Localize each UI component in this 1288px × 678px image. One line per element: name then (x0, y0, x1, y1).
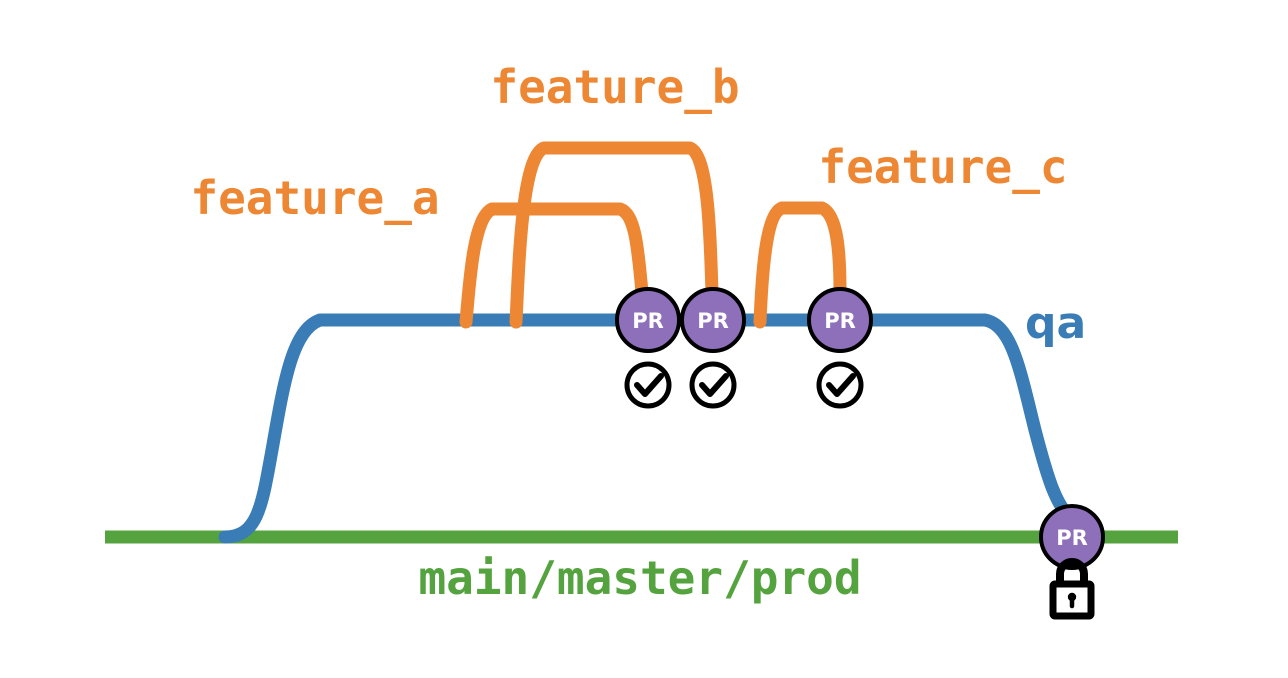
pr-node-3[interactable]: PR (809, 289, 871, 351)
check-circle-icon (692, 364, 734, 406)
feature-b-branch-line (516, 148, 712, 322)
check-circle-icon (627, 364, 669, 406)
pr-node-label: PR (824, 309, 856, 333)
feature-a-branch-line (466, 209, 642, 322)
diagram-canvas: PR PR PR PR (0, 0, 1288, 678)
pr-node-1[interactable]: PR (617, 289, 679, 351)
qa-branch-label: qa (1025, 298, 1086, 349)
check-circle-icon (819, 364, 861, 406)
main-branch-label: main/master/prod (418, 551, 861, 605)
pr-node-label: PR (1056, 526, 1088, 550)
feature-c-label: feature_c (818, 140, 1067, 194)
lock-icon (1053, 562, 1091, 616)
pr-node-2[interactable]: PR (682, 289, 744, 351)
pr-node-label: PR (697, 309, 729, 333)
pr-node-label: PR (632, 309, 664, 333)
feature-b-label: feature_b (490, 60, 739, 114)
git-branch-diagram: PR PR PR PR (0, 0, 1288, 678)
feature-a-label: feature_a (190, 171, 439, 225)
